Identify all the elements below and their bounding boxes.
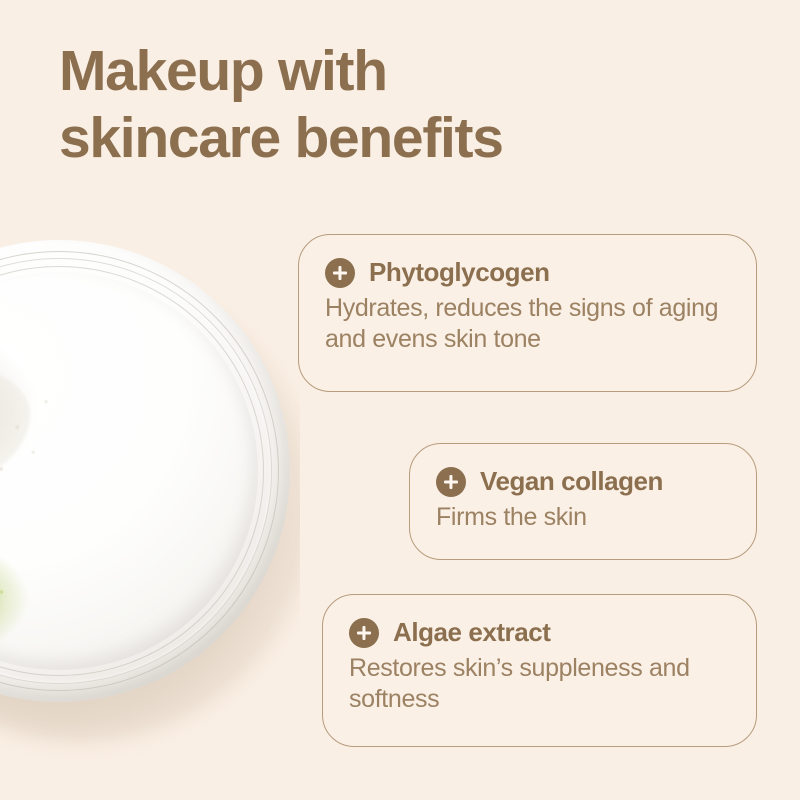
benefit-title: Algae extract (393, 617, 550, 648)
benefit-card-header: Vegan collagen (436, 466, 730, 497)
benefit-description: Firms the skin (436, 502, 730, 533)
dish-groove-inner (0, 266, 264, 676)
benefit-title: Phytoglycogen (369, 257, 550, 288)
plus-icon (436, 467, 466, 497)
benefit-description: Hydrates, reduces the signs of aging and… (325, 293, 730, 355)
white-powder-mound (0, 330, 90, 510)
green-powder-grains (0, 524, 94, 670)
dish-well (0, 272, 258, 670)
dish-groove-middle (0, 258, 272, 684)
benefit-description: Restores skin’s suppleness and softness (349, 653, 730, 715)
product-photo (0, 210, 300, 780)
benefit-card-algae-extract: Algae extract Restores skin’s suppleness… (322, 594, 757, 747)
dish-rim (0, 240, 290, 702)
white-powder-body (0, 358, 30, 484)
dish-groove-outer (0, 251, 279, 691)
plus-icon (349, 618, 379, 648)
white-powder-grains (0, 322, 110, 532)
benefit-card-vegan-collagen: Vegan collagen Firms the skin (409, 443, 757, 560)
page-title: Makeup with skincare benefits (59, 38, 719, 171)
dish-shadow (0, 270, 300, 742)
benefit-card-header: Phytoglycogen (325, 257, 730, 288)
plus-icon (325, 258, 355, 288)
benefit-title: Vegan collagen (480, 466, 663, 497)
benefit-card-phytoglycogen: Phytoglycogen Hydrates, reduces the sign… (298, 234, 757, 392)
benefit-card-header: Algae extract (349, 617, 730, 648)
green-powder-mound (0, 534, 70, 670)
